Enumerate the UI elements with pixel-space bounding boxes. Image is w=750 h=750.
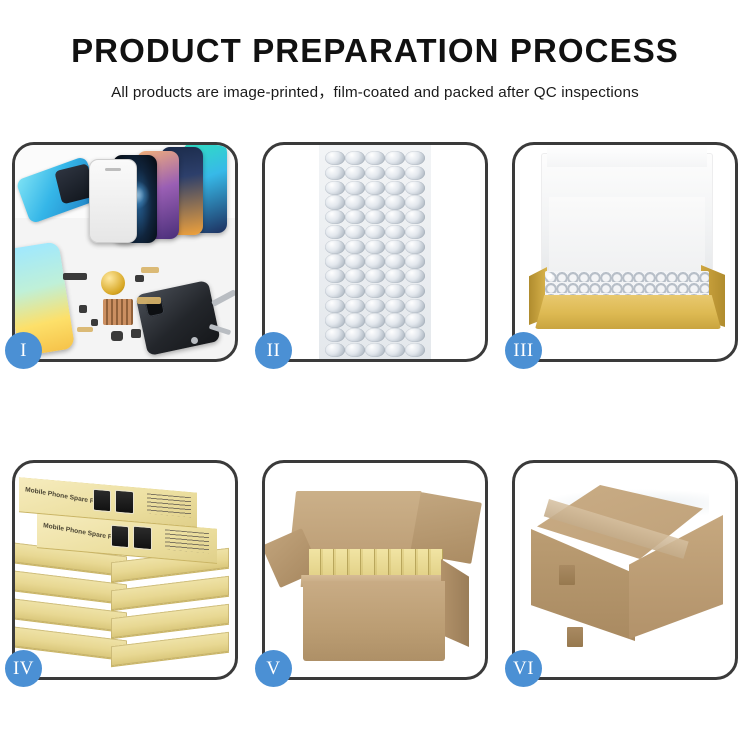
small-part-icon: [111, 331, 123, 341]
step-card-6: VI: [512, 460, 738, 680]
step-badge-3: III: [505, 332, 542, 369]
page-subtitle: All products are image-printed，film-coat…: [0, 80, 750, 102]
step-badge-2: II: [255, 332, 292, 369]
carton-back-flap: [290, 491, 422, 549]
box-print-screen-icon: [115, 490, 134, 515]
step-badge-5: V: [255, 650, 292, 687]
small-part-icon: [91, 319, 98, 326]
carton-front-panel: [303, 581, 445, 661]
screen-protector-icon: [89, 159, 137, 243]
flex-cable-icon: [77, 327, 93, 332]
step-card-4: Mobile Phone Spare Parts Mobile Phone Sp…: [12, 460, 238, 680]
screw-icon: [191, 337, 198, 344]
step-card-1: I: [12, 142, 238, 362]
page-title: PRODUCT PREPARATION PROCESS: [0, 34, 750, 69]
phone-back-housing-icon: [135, 280, 220, 356]
carton-tab-icon: [559, 565, 575, 585]
small-part-icon: [79, 305, 87, 313]
box-print-spec-text: [147, 493, 191, 517]
small-part-icon: [131, 329, 141, 338]
carton-tab-icon: [567, 627, 583, 647]
box-print-screen-icon: [93, 489, 111, 513]
tweezers-icon: [211, 289, 235, 307]
step-card-5: V: [262, 460, 488, 680]
step-badge-4: IV: [5, 650, 42, 687]
flex-cable-icon: [137, 297, 161, 304]
connector-grid-part-icon: [103, 299, 133, 325]
step-card-2: II: [262, 142, 488, 362]
bubble-wrap-icon: [325, 151, 425, 357]
small-part-icon: [135, 275, 144, 282]
step-2-image: [265, 145, 485, 359]
step-5-image: [265, 463, 485, 677]
step-1-image: [15, 145, 235, 359]
carton-right-side: [441, 559, 469, 647]
box-print-spec-text: [165, 529, 209, 553]
box-print-screen-icon: [133, 526, 152, 551]
page-header: PRODUCT PREPARATION PROCESS All products…: [0, 0, 750, 102]
stacked-box: [111, 632, 229, 666]
box-lid-top-edge: [547, 145, 707, 167]
step-6-image: [515, 463, 735, 677]
step-badge-6: VI: [505, 650, 542, 687]
box-stack-icon: Mobile Phone Spare Parts Mobile Phone Sp…: [15, 463, 235, 677]
process-step-grid: I II: [12, 142, 738, 680]
step-4-image: Mobile Phone Spare Parts Mobile Phone Sp…: [15, 463, 235, 677]
step-card-3: III: [512, 142, 738, 362]
box-front-panel: [535, 295, 721, 329]
step-badge-1: I: [5, 332, 42, 369]
step-3-image: [515, 145, 735, 359]
gold-coil-part-icon: [101, 271, 125, 295]
box-print-screen-icon: [111, 525, 129, 549]
small-part-icon: [63, 273, 87, 280]
flex-cable-icon: [141, 267, 159, 273]
box-inner-wall: [549, 197, 705, 271]
